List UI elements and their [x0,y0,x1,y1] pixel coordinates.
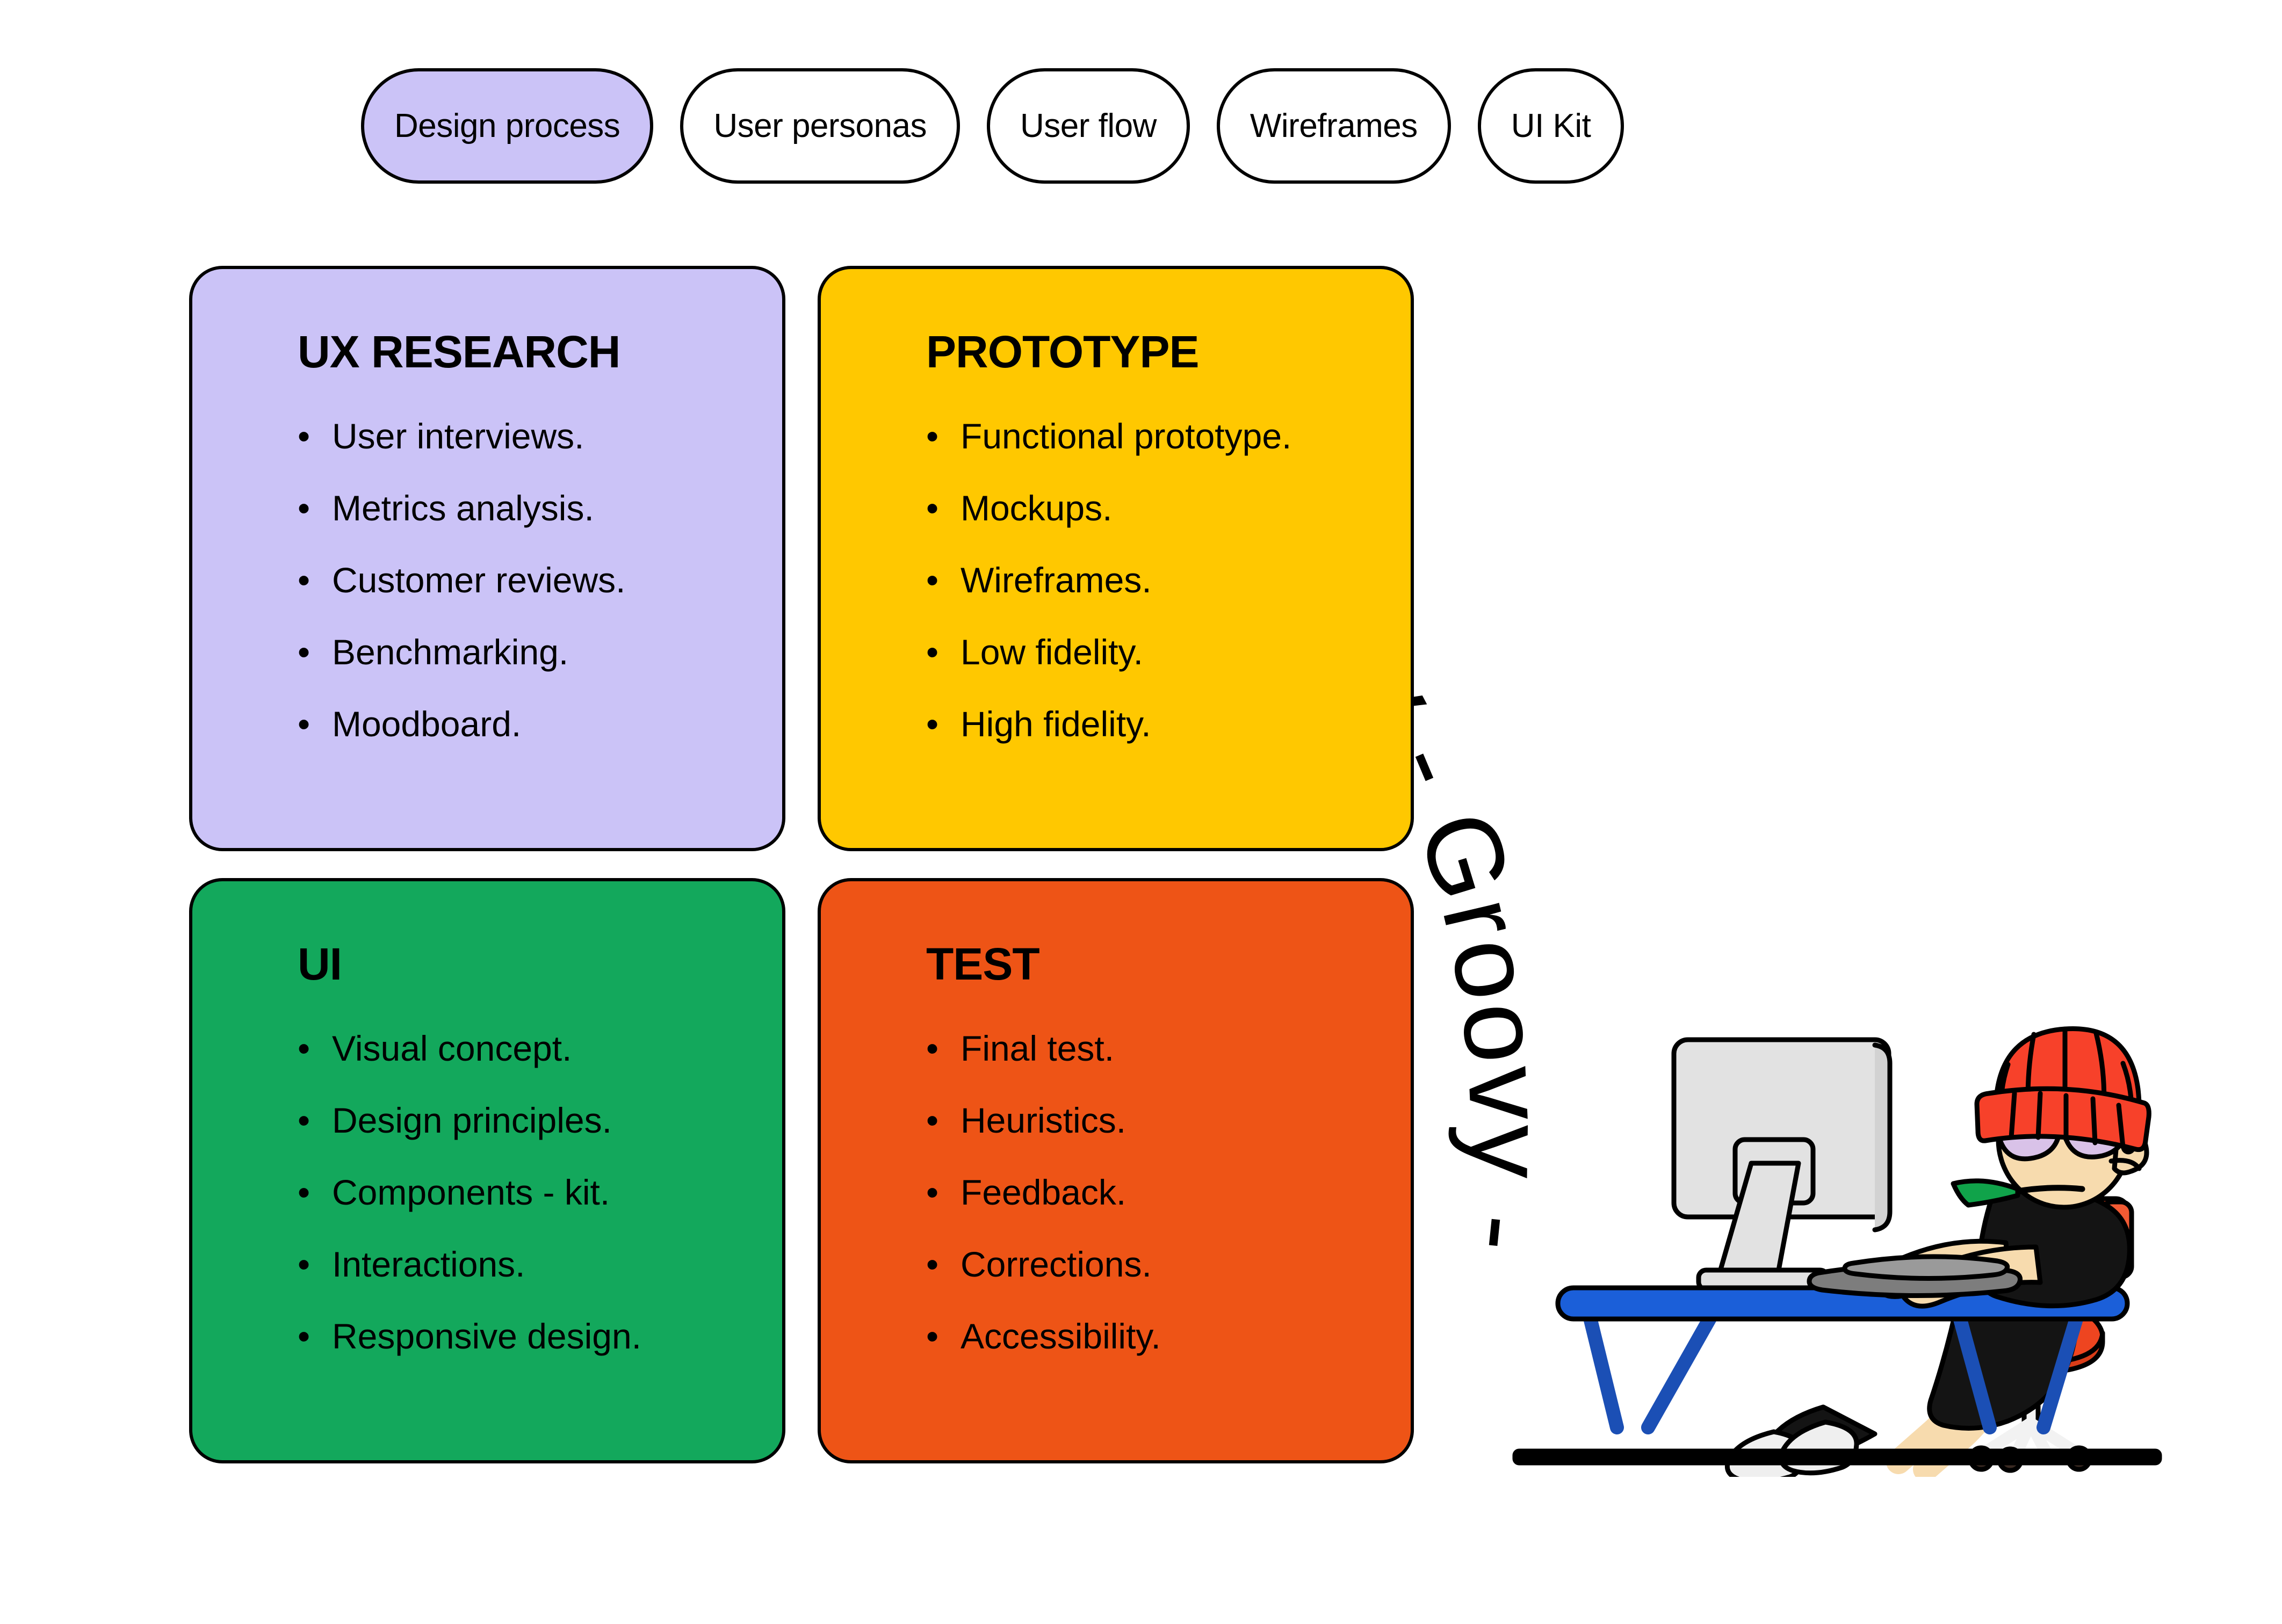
card-test[interactable]: TEST •Final test. •Heuristics. •Feedback… [818,878,1414,1463]
list-item-label: User interviews. [332,418,584,454]
bullet-icon: • [926,1031,961,1066]
list-item: •Wireframes. [926,562,1411,598]
list-item: •Final test. [926,1031,1411,1066]
bullet-icon: • [298,1031,332,1066]
card-ui[interactable]: UI •Visual concept. •Design principles. … [189,878,785,1463]
tab-design-process[interactable]: Design process [361,68,653,184]
bullet-icon: • [926,1175,961,1210]
list-item: •Interactions. [298,1246,782,1282]
list-item-label: Components - kit. [332,1175,610,1210]
tab-user-personas[interactable]: User personas [680,68,960,184]
list-item: •Design principles. [298,1103,782,1138]
list-item: •Accessibility. [926,1318,1411,1354]
tab-bar: Design process User personas User flow W… [361,68,1624,184]
ground-line [1515,1451,2160,1463]
bullet-icon: • [926,1103,961,1138]
list-item-label: Mockups. [961,490,1112,526]
keyboard-icon [1809,1257,2020,1296]
list-item-label: Low fidelity. [961,634,1143,670]
bullet-icon: • [298,418,332,454]
list-item-label: Wireframes. [961,562,1152,598]
tab-label: Design process [394,110,620,143]
bullet-icon: • [926,562,961,598]
card-bullet-list: •Visual concept. •Design principles. •Co… [298,1031,782,1354]
tab-label: UI Kit [1511,110,1591,143]
card-title: PROTOTYPE [926,329,1411,374]
list-item-label: Feedback. [961,1175,1126,1210]
list-item-label: Heuristics. [961,1103,1126,1138]
bullet-icon: • [926,706,961,742]
bullet-icon: • [926,1318,961,1354]
tab-label: Wireframes [1250,110,1418,143]
bullet-icon: • [926,1246,961,1282]
tab-label: User flow [1020,110,1157,143]
list-item: •Low fidelity. [926,634,1411,670]
list-item-label: Benchmarking. [332,634,568,670]
list-item: •Heuristics. [926,1103,1411,1138]
bullet-icon: • [298,634,332,670]
bullet-icon: • [298,490,332,526]
list-item: •Components - kit. [298,1175,782,1210]
card-prototype[interactable]: PROTOTYPE •Functional prototype. •Mockup… [818,266,1414,851]
bullet-icon: • [298,562,332,598]
bullet-icon: • [926,418,961,454]
list-item-label: Corrections. [961,1246,1152,1282]
list-item-label: Moodboard. [332,706,521,742]
bullet-icon: • [298,1246,332,1282]
list-item: •High fidelity. [926,706,1411,742]
list-item: •Metrics analysis. [298,490,782,526]
beanie-icon [1977,1029,2149,1150]
monitor-icon [1674,1040,1890,1289]
list-item: •Customer reviews. [298,562,782,598]
list-item: •Feedback. [926,1175,1411,1210]
list-item-label: Customer reviews. [332,562,625,598]
bullet-icon: • [926,634,961,670]
card-bullet-list: •User interviews. •Metrics analysis. •Cu… [298,418,782,742]
list-item-label: Design principles. [332,1103,612,1138]
card-ux-research[interactable]: UX RESEARCH •User interviews. •Metrics a… [189,266,785,851]
card-title: UX RESEARCH [298,329,782,374]
list-item: •Benchmarking. [298,634,782,670]
list-item-label: Functional prototype. [961,418,1291,454]
list-item: •Functional prototype. [926,418,1411,454]
bullet-icon: • [926,490,961,526]
bullet-icon: • [298,706,332,742]
list-item-label: Responsive design. [332,1318,641,1354]
tab-ui-kit[interactable]: UI Kit [1478,68,1624,184]
list-item-label: Metrics analysis. [332,490,594,526]
list-item-label: High fidelity. [961,706,1151,742]
card-title: UI [298,941,782,987]
list-item: •Visual concept. [298,1031,782,1066]
list-item-label: Final test. [961,1031,1114,1066]
list-item: •Responsive design. [298,1318,782,1354]
list-item-label: Visual concept. [332,1031,572,1066]
design-process-card-grid: UX RESEARCH •User interviews. •Metrics a… [189,266,1446,1474]
list-item: •Corrections. [926,1246,1411,1282]
bullet-icon: • [298,1175,332,1210]
tab-label: User personas [713,110,927,143]
card-title: TEST [926,941,1411,987]
list-item-label: Interactions. [332,1246,525,1282]
list-item: •Mockups. [926,490,1411,526]
list-item: •Moodboard. [298,706,782,742]
tab-user-flow[interactable]: User flow [987,68,1190,184]
list-item: •User interviews. [298,418,782,454]
tab-wireframes[interactable]: Wireframes [1217,68,1451,184]
person-at-desk-illustration [1499,1004,2176,1477]
card-bullet-list: •Final test. •Heuristics. •Feedback. •Co… [926,1031,1411,1354]
list-item-label: Accessibility. [961,1318,1161,1354]
bullet-icon: • [298,1318,332,1354]
bullet-icon: • [298,1103,332,1138]
card-bullet-list: •Functional prototype. •Mockups. •Wirefr… [926,418,1411,742]
